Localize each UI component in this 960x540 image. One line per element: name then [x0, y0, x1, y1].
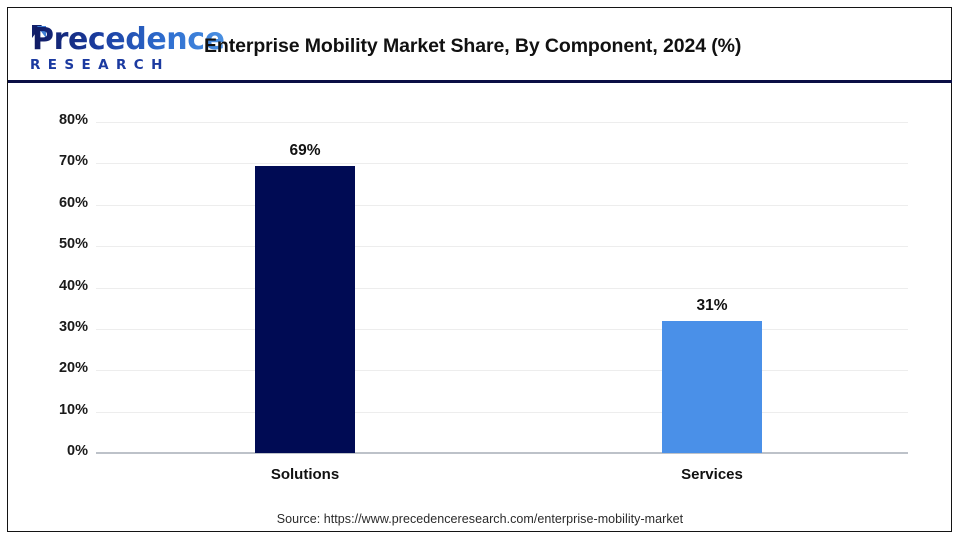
y-tick-label-30: 30%	[34, 319, 88, 335]
y-tick-label-50: 50%	[34, 236, 88, 252]
bar-services[interactable]	[662, 321, 762, 453]
plot-area: 80% 70% 60% 50% 40% 30% 20% 10% 0% 69% 3…	[0, 0, 960, 540]
gridline-40	[96, 288, 908, 289]
y-tick-label-0: 0%	[34, 443, 88, 459]
y-tick-label-40: 40%	[34, 278, 88, 294]
gridline-50	[96, 246, 908, 247]
bar-solutions[interactable]	[255, 166, 355, 453]
x-category-label-solutions: Solutions	[195, 466, 415, 483]
gridline-10	[96, 412, 908, 413]
y-tick-label-20: 20%	[34, 360, 88, 376]
gridline-80	[96, 122, 908, 123]
bar-value-label-services: 31%	[632, 297, 792, 315]
y-tick-label-60: 60%	[34, 195, 88, 211]
y-tick-label-10: 10%	[34, 402, 88, 418]
gridline-30	[96, 329, 908, 330]
source-note: Source: https://www.precedenceresearch.c…	[0, 512, 960, 526]
chart-canvas: Precedence RESEARCH Enterprise Mobility …	[0, 0, 960, 540]
bar-value-label-solutions: 69%	[225, 142, 385, 160]
x-axis-line	[96, 452, 908, 454]
y-tick-label-70: 70%	[34, 153, 88, 169]
x-category-label-services: Services	[602, 466, 822, 483]
gridline-60	[96, 205, 908, 206]
gridline-20	[96, 370, 908, 371]
gridline-70	[96, 163, 908, 164]
y-tick-label-80: 80%	[34, 112, 88, 128]
